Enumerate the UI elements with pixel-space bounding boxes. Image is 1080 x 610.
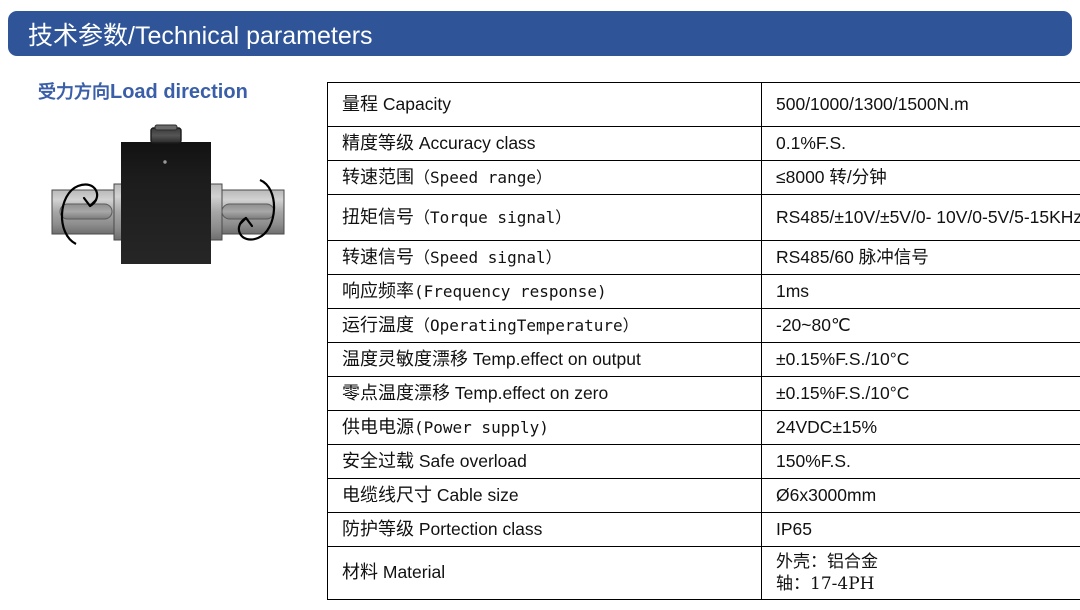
section-header-banner: 技术参数/Technical parameters [8, 11, 1072, 56]
param-value-cell: IP65 [762, 513, 1080, 547]
param-name-en: Portection class [414, 519, 542, 539]
param-name-cell: 防护等级 Portection class [328, 513, 762, 547]
param-value: ±0.15%F.S./10°C [776, 349, 909, 369]
param-name-cell: 转速范围（Speed range） [328, 161, 762, 195]
param-value-cell: ±0.15%F.S./10°C [762, 343, 1080, 377]
param-name-en: （OperatingTemperature） [414, 316, 639, 335]
param-value: 500/1000/1300/1500N.m [776, 94, 969, 114]
param-name-cn: 扭矩信号 [342, 207, 414, 228]
param-value-cell: RS485/±10V/±5V/0- 10V/0-5V/5-15KHz [762, 195, 1080, 241]
table-row: 零点温度漂移 Temp.effect on zero±0.15%F.S./10°… [328, 377, 1080, 411]
table-row: 温度灵敏度漂移 Temp.effect on output±0.15%F.S./… [328, 343, 1080, 377]
load-direction-label: 受力方向Load direction [38, 78, 248, 104]
table-row: 响应频率(Frequency response)1ms [328, 275, 1080, 309]
param-name-cn: 量程 [342, 94, 378, 115]
param-name-en: (Frequency response) [414, 282, 607, 301]
param-value-cell: 500/1000/1300/1500N.m [762, 83, 1080, 127]
table-row: 防护等级 Portection classIP65 [328, 513, 1080, 547]
param-value: 150%F.S. [776, 451, 851, 471]
param-name-en: （Speed range） [414, 168, 552, 187]
table-row: 量程 Capacity500/1000/1300/1500N.m [328, 83, 1080, 127]
param-value: RS485/60 脉冲信号 [776, 247, 929, 267]
param-value-cell: 24VDC±15% [762, 411, 1080, 445]
param-value: 24VDC±15% [776, 417, 877, 437]
shaft-right-group [208, 184, 284, 240]
param-value-cell: Ø6x3000mm [762, 479, 1080, 513]
param-name-cn: 材料 [342, 562, 378, 583]
param-name-cell: 供电电源(Power supply) [328, 411, 762, 445]
sensor-body [121, 142, 211, 264]
param-value: -20~80℃ [776, 315, 851, 335]
param-value: IP65 [776, 519, 812, 539]
technical-parameters-table: 量程 Capacity500/1000/1300/1500N.m精度等级 Acc… [327, 82, 1080, 600]
param-name-en: Capacity [378, 94, 451, 114]
param-name-cn: 供电电源 [342, 417, 414, 438]
param-value: Ø6x3000mm [776, 485, 876, 505]
param-name-cell: 温度灵敏度漂移 Temp.effect on output [328, 343, 762, 377]
param-name-cn: 精度等级 [342, 133, 414, 154]
table-row: 电缆线尺寸 Cable sizeØ6x3000mm [328, 479, 1080, 513]
param-name-cell: 电缆线尺寸 Cable size [328, 479, 762, 513]
table-body: 量程 Capacity500/1000/1300/1500N.m精度等级 Acc… [328, 83, 1080, 600]
torque-sensor-diagram [22, 122, 318, 300]
param-value: ≤8000 转/分钟 [776, 167, 887, 187]
param-name-cn: 运行温度 [342, 315, 414, 336]
table-row: 供电电源(Power supply)24VDC±15% [328, 411, 1080, 445]
param-name-cell: 安全过载 Safe overload [328, 445, 762, 479]
param-value-cell: 1ms [762, 275, 1080, 309]
param-name-en: （Torque signal） [414, 208, 571, 227]
param-name-cn: 防护等级 [342, 519, 414, 540]
param-name-cell: 运行温度（OperatingTemperature） [328, 309, 762, 343]
param-value-cell: ±0.15%F.S./10°C [762, 377, 1080, 411]
param-value-cell: 150%F.S. [762, 445, 1080, 479]
param-name-cn: 转速范围 [342, 167, 414, 188]
param-name-cn: 响应频率 [342, 281, 414, 302]
param-name-cn: 零点温度漂移 [342, 383, 450, 404]
param-name-cell: 零点温度漂移 Temp.effect on zero [328, 377, 762, 411]
table-row: 精度等级 Accuracy class0.1%F.S. [328, 127, 1080, 161]
page-title: 技术参数/Technical parameters [28, 16, 373, 52]
param-name-cell: 材料 Material [328, 547, 762, 600]
param-value: 外壳：铝合金 轴：17-4PH [776, 552, 878, 594]
param-value-cell: 0.1%F.S. [762, 127, 1080, 161]
table-row: 安全过载 Safe overload150%F.S. [328, 445, 1080, 479]
param-value: ±0.15%F.S./10°C [776, 383, 909, 403]
param-name-cell: 精度等级 Accuracy class [328, 127, 762, 161]
load-direction-label-cn: 受力方向 [38, 82, 110, 103]
param-name-cn: 转速信号 [342, 247, 414, 268]
param-name-en: Cable size [432, 485, 519, 505]
param-name-cell: 量程 Capacity [328, 83, 762, 127]
param-name-en: (Power supply) [414, 418, 549, 437]
table-row: 运行温度（OperatingTemperature）-20~80℃ [328, 309, 1080, 343]
param-name-en: Accuracy class [414, 133, 536, 153]
param-value-cell: -20~80℃ [762, 309, 1080, 343]
shaft-left-group [52, 184, 128, 240]
table-row: 扭矩信号（Torque signal）RS485/±10V/±5V/0- 10V… [328, 195, 1080, 241]
param-value-cell: RS485/60 脉冲信号 [762, 241, 1080, 275]
param-name-en: Temp.effect on output [468, 349, 641, 369]
param-value-cell: 外壳：铝合金 轴：17-4PH [762, 547, 1080, 600]
param-name-cn: 安全过载 [342, 451, 414, 472]
param-name-en: Temp.effect on zero [450, 383, 608, 403]
param-name-en: Safe overload [414, 451, 527, 471]
param-value: 1ms [776, 281, 809, 301]
param-name-en: Material [378, 562, 445, 582]
sensor-connector [151, 125, 181, 143]
load-direction-label-en: Load direction [110, 81, 248, 103]
param-value: RS485/±10V/±5V/0- 10V/0-5V/5-15KHz [776, 207, 1080, 227]
param-value-cell: ≤8000 转/分钟 [762, 161, 1080, 195]
param-value: 0.1%F.S. [776, 133, 846, 153]
param-name-cell: 扭矩信号（Torque signal） [328, 195, 762, 241]
table-row: 转速范围（Speed range）≤8000 转/分钟 [328, 161, 1080, 195]
table-row: 转速信号（Speed signal）RS485/60 脉冲信号 [328, 241, 1080, 275]
param-name-cn: 电缆线尺寸 [342, 485, 432, 506]
param-name-cell: 转速信号（Speed signal） [328, 241, 762, 275]
param-name-en: （Speed signal） [414, 248, 562, 267]
param-name-cn: 温度灵敏度漂移 [342, 349, 468, 370]
table-row: 材料 Material外壳：铝合金 轴：17-4PH [328, 547, 1080, 600]
param-name-cell: 响应频率(Frequency response) [328, 275, 762, 309]
